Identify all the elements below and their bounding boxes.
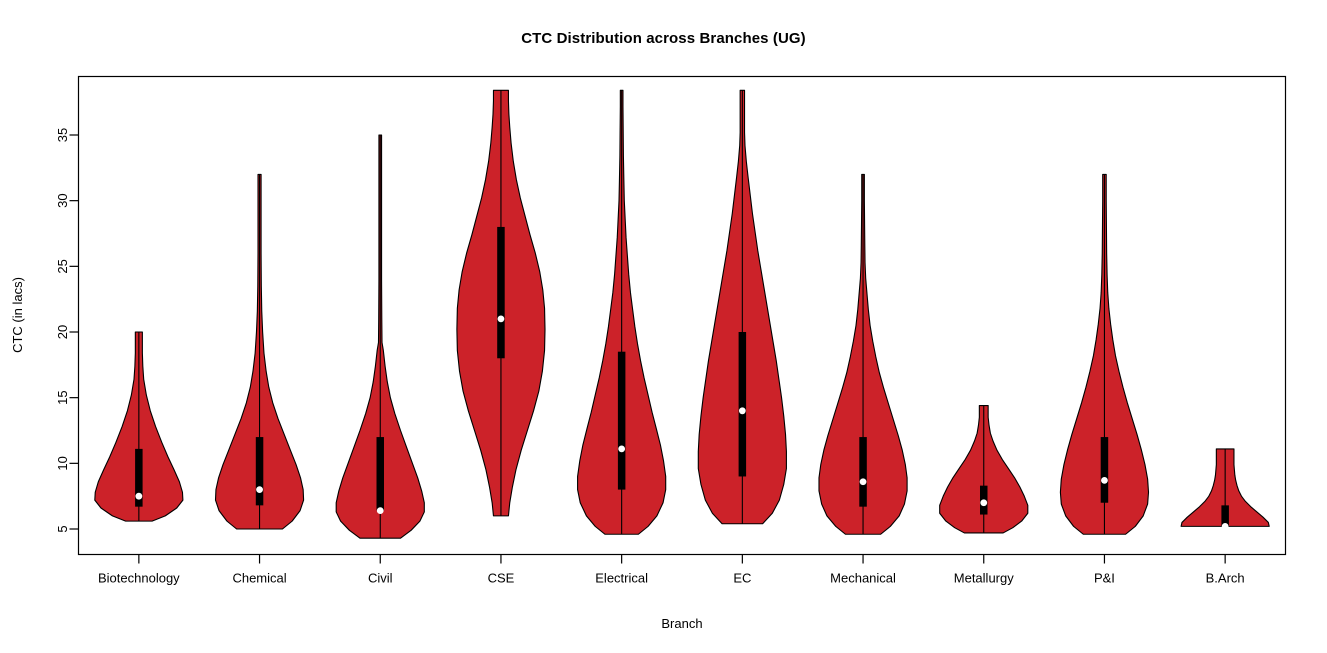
violin-ec[interactable] [698, 90, 786, 523]
x-axis: BiotechnologyChemicalCivilCSEElectricalE… [98, 555, 1245, 586]
violin-median-point [739, 407, 746, 414]
violin-cse[interactable] [457, 90, 545, 516]
violin-median-point [980, 499, 987, 506]
x-tick-label-mechanical: Mechanical [830, 571, 896, 586]
x-tick-label-biotechnology: Biotechnology [98, 571, 180, 586]
x-tick-label-metallurgy: Metallurgy [954, 571, 1014, 586]
violin-metallurgy[interactable] [940, 406, 1028, 533]
violin-biotechnology[interactable] [95, 332, 183, 521]
violin-electrical[interactable] [578, 90, 666, 534]
y-tick-label: 30 [55, 193, 70, 207]
y-tick-label: 20 [55, 325, 70, 339]
violin-median-point [1222, 523, 1229, 530]
violin-b-arch[interactable] [1181, 449, 1269, 530]
violin-median-point [860, 478, 867, 485]
violin-iqr-box [497, 227, 505, 358]
y-tick-label: 25 [55, 259, 70, 273]
violin-chemical[interactable] [215, 174, 303, 529]
violin-median-point [135, 493, 142, 500]
violin-iqr-box [618, 352, 626, 490]
x-tick-label-chemical: Chemical [232, 571, 286, 586]
violin-plot-page: CTC Distribution across Branches (UG) 51… [0, 0, 1327, 653]
violin-iqr-box [859, 437, 867, 507]
violin-series-group [95, 90, 1269, 538]
y-axis: 5101520253035 [55, 128, 79, 533]
y-tick-label: 5 [55, 525, 70, 532]
violin-median-point [1101, 477, 1108, 484]
x-tick-label-b-arch: B.Arch [1206, 571, 1245, 586]
x-tick-label-civil: Civil [368, 571, 393, 586]
violin-mechanical[interactable] [819, 174, 907, 534]
violin-p-i[interactable] [1060, 174, 1148, 534]
violin-iqr-box [377, 437, 385, 511]
violin-median-point [618, 445, 625, 452]
violin-median-point [256, 486, 263, 493]
y-axis-title: CTC (in lacs) [10, 277, 25, 353]
violin-iqr-box [1101, 437, 1109, 503]
x-tick-label-electrical: Electrical [595, 571, 648, 586]
violin-iqr-box [256, 437, 263, 505]
violin-civil[interactable] [336, 135, 424, 538]
x-axis-title: Branch [661, 616, 702, 631]
violin-median-point [498, 315, 505, 322]
x-tick-label-p-i: P&I [1094, 571, 1115, 586]
x-tick-label-cse: CSE [488, 571, 515, 586]
y-tick-label: 15 [55, 390, 70, 404]
x-tick-label-ec: EC [733, 571, 751, 586]
y-tick-label: 10 [55, 456, 70, 470]
y-tick-label: 35 [55, 128, 70, 142]
violin-median-point [377, 507, 384, 514]
violin-iqr-box [739, 332, 747, 476]
violin-plot-canvas: 5101520253035 BiotechnologyChemicalCivil… [0, 0, 1327, 653]
